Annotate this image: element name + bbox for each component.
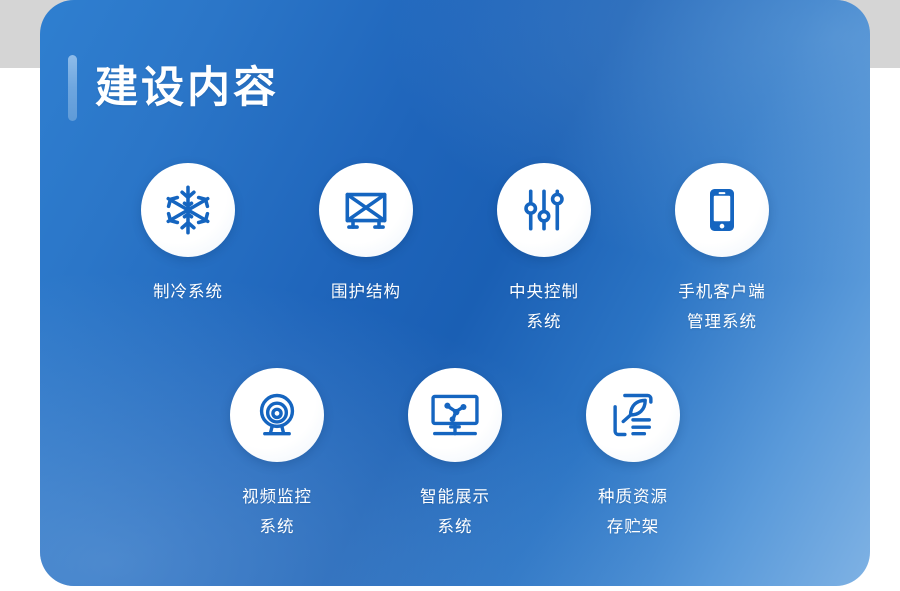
sliders-control-icon xyxy=(519,185,569,235)
feature-item-label: 种质资源 存贮架 xyxy=(598,482,668,542)
page-title-text: 建设内容 xyxy=(95,67,279,110)
feature-item-envelope-structure[interactable]: 围护结构 xyxy=(306,163,426,337)
icon-bubble xyxy=(319,163,413,257)
feature-item-central-control[interactable]: 中央控制 系统 xyxy=(484,163,604,337)
feature-item-label: 围护结构 xyxy=(331,277,401,307)
title-accent-bar xyxy=(68,55,77,121)
feature-item-label: 智能展示 系统 xyxy=(420,482,490,542)
feature-item-video-surveillance[interactable]: 视频监控 系统 xyxy=(217,368,337,542)
feature-row-1: 制冷系统 围护结构 xyxy=(40,163,870,337)
feature-row-2: 视频监控 系统 xyxy=(40,368,870,542)
monitor-network-icon xyxy=(428,388,482,442)
feature-item-refrigeration[interactable]: 制冷系统 xyxy=(128,163,248,337)
feature-item-mobile-client[interactable]: 手机客户端 管理系统 xyxy=(662,163,782,337)
feature-item-label: 制冷系统 xyxy=(153,277,223,307)
icon-bubble xyxy=(230,368,324,462)
leaf-document-icon xyxy=(607,389,659,441)
enclosure-frame-icon xyxy=(340,184,392,236)
feature-item-label: 中央控制 系统 xyxy=(509,277,579,337)
icon-bubble xyxy=(141,163,235,257)
feature-item-label: 视频监控 系统 xyxy=(242,482,312,542)
content-card: 建设内容 xyxy=(40,0,870,586)
icon-bubble xyxy=(408,368,502,462)
snowflake-icon xyxy=(161,183,215,237)
webcam-monitor-icon xyxy=(251,389,303,441)
feature-item-label: 手机客户端 管理系统 xyxy=(678,277,766,337)
icon-bubble xyxy=(586,368,680,462)
page-title: 建设内容 xyxy=(68,55,279,121)
icon-bubble xyxy=(497,163,591,257)
icon-bubble xyxy=(675,163,769,257)
feature-item-intelligent-display[interactable]: 智能展示 系统 xyxy=(395,368,515,542)
smartphone-icon xyxy=(698,186,746,234)
feature-item-germplasm-storage[interactable]: 种质资源 存贮架 xyxy=(573,368,693,542)
